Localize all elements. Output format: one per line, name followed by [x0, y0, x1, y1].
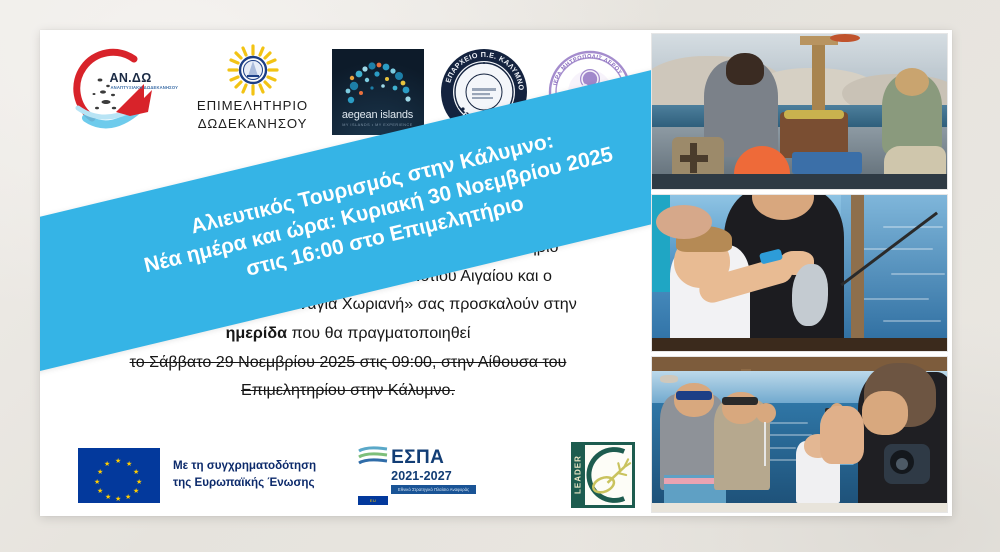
aegean-islands-tagline: MY ISLANDS • MY EXPERIENCE	[342, 123, 413, 127]
body-line-6: Επιμελητηρίου στην Κάλυμνο.	[68, 376, 628, 405]
photo-fishing-boat-rocky-shore	[651, 33, 948, 190]
ando-swoosh-icon	[56, 46, 174, 138]
espa-eu-text: EU	[370, 498, 377, 503]
aegean-islands-logo: aegean islands MY ISLANDS • MY EXPERIENC…	[332, 49, 424, 135]
photo-group-on-boat	[651, 356, 948, 513]
espa-bar-text: Εθνικό Στρατηγικό Πλαίσιο Αναφοράς	[398, 487, 469, 492]
chamber-logo-line1: ΕΠΙΜΕΛΗΤΗΡΙΟ	[189, 98, 317, 114]
body-line-5: το Σάββατο 29 Νοεμβρίου 2025 στις 09:00,…	[68, 348, 628, 377]
body-line-4-bold: ημερίδα	[226, 324, 287, 342]
espa-years: 2021-2027	[391, 469, 476, 483]
espa-eu-badge: EU	[358, 496, 388, 505]
photo-boy-holding-fish	[651, 194, 948, 351]
poster-document: ΑΝ.ΔΩ ΑΝΑΠΤΥΞΙΑΚΗ ΔΩΔΕΚΑΝΗΣΟΥ	[40, 30, 651, 516]
leader-panel	[585, 445, 632, 505]
sun-emblem-icon	[226, 44, 280, 96]
espa-caption-bar: Εθνικό Στρατηγικό Πλαίσιο Αναφοράς	[391, 485, 476, 494]
funding-logo-row: ★ ★ ★ ★ ★ ★ ★ ★ ★ ★ ★ ★ Με τη συγχρηματο…	[78, 438, 623, 512]
espa-logo: ΕΣΠΑ 2021-2027 Εθνικό Στρατηγικό Πλαίσιο…	[358, 446, 476, 505]
body-line-4-rest: που θα πραγματοποιηθεί	[287, 324, 470, 342]
chamber-logo-line2: ΔΩΔΕΚΑΝΗΣΟΥ	[189, 116, 317, 132]
espa-word: ΕΣΠΑ	[391, 449, 444, 467]
ando-logo-sublabel: ΑΝΑΠΤΥΞΙΑΚΗ ΔΩΔΕΚΑΝΗΣΟΥ	[111, 85, 179, 90]
leader-leaf-icon	[585, 445, 632, 505]
european-union-flag: ★ ★ ★ ★ ★ ★ ★ ★ ★ ★ ★ ★	[78, 448, 160, 503]
aegean-bubble-arch-icon	[339, 60, 417, 108]
leader-logo: LEADER	[571, 442, 635, 508]
eu-text-line1: Με τη συγχρηματοδότηση	[173, 458, 316, 475]
ando-logo-label: ΑΝ.ΔΩ	[110, 72, 152, 85]
chamber-of-dodecanese-logo: ΕΠΙΜΕΛΗΤΗΡΙΟ ΔΩΔΕΚΑΝΗΣΟΥ	[189, 44, 317, 140]
espa-waves-icon	[358, 446, 388, 468]
eu-text-line2: της Ευρωπαϊκής Ένωσης	[173, 475, 316, 492]
photo-column	[651, 30, 952, 516]
ando-logo: ΑΝ.ΔΩ ΑΝΑΠΤΥΞΙΑΚΗ ΔΩΔΕΚΑΝΗΣΟΥ	[56, 46, 174, 138]
eu-cofinancing-text: Με τη συγχρηματοδότηση της Ευρωπαϊκής Έν…	[173, 458, 316, 492]
leader-word: LEADER	[571, 442, 585, 508]
poster-card: ΑΝ.ΔΩ ΑΝΑΠΤΥΞΙΑΚΗ ΔΩΔΕΚΑΝΗΣΟΥ	[40, 30, 952, 516]
aegean-islands-label: aegean islands	[342, 109, 413, 121]
